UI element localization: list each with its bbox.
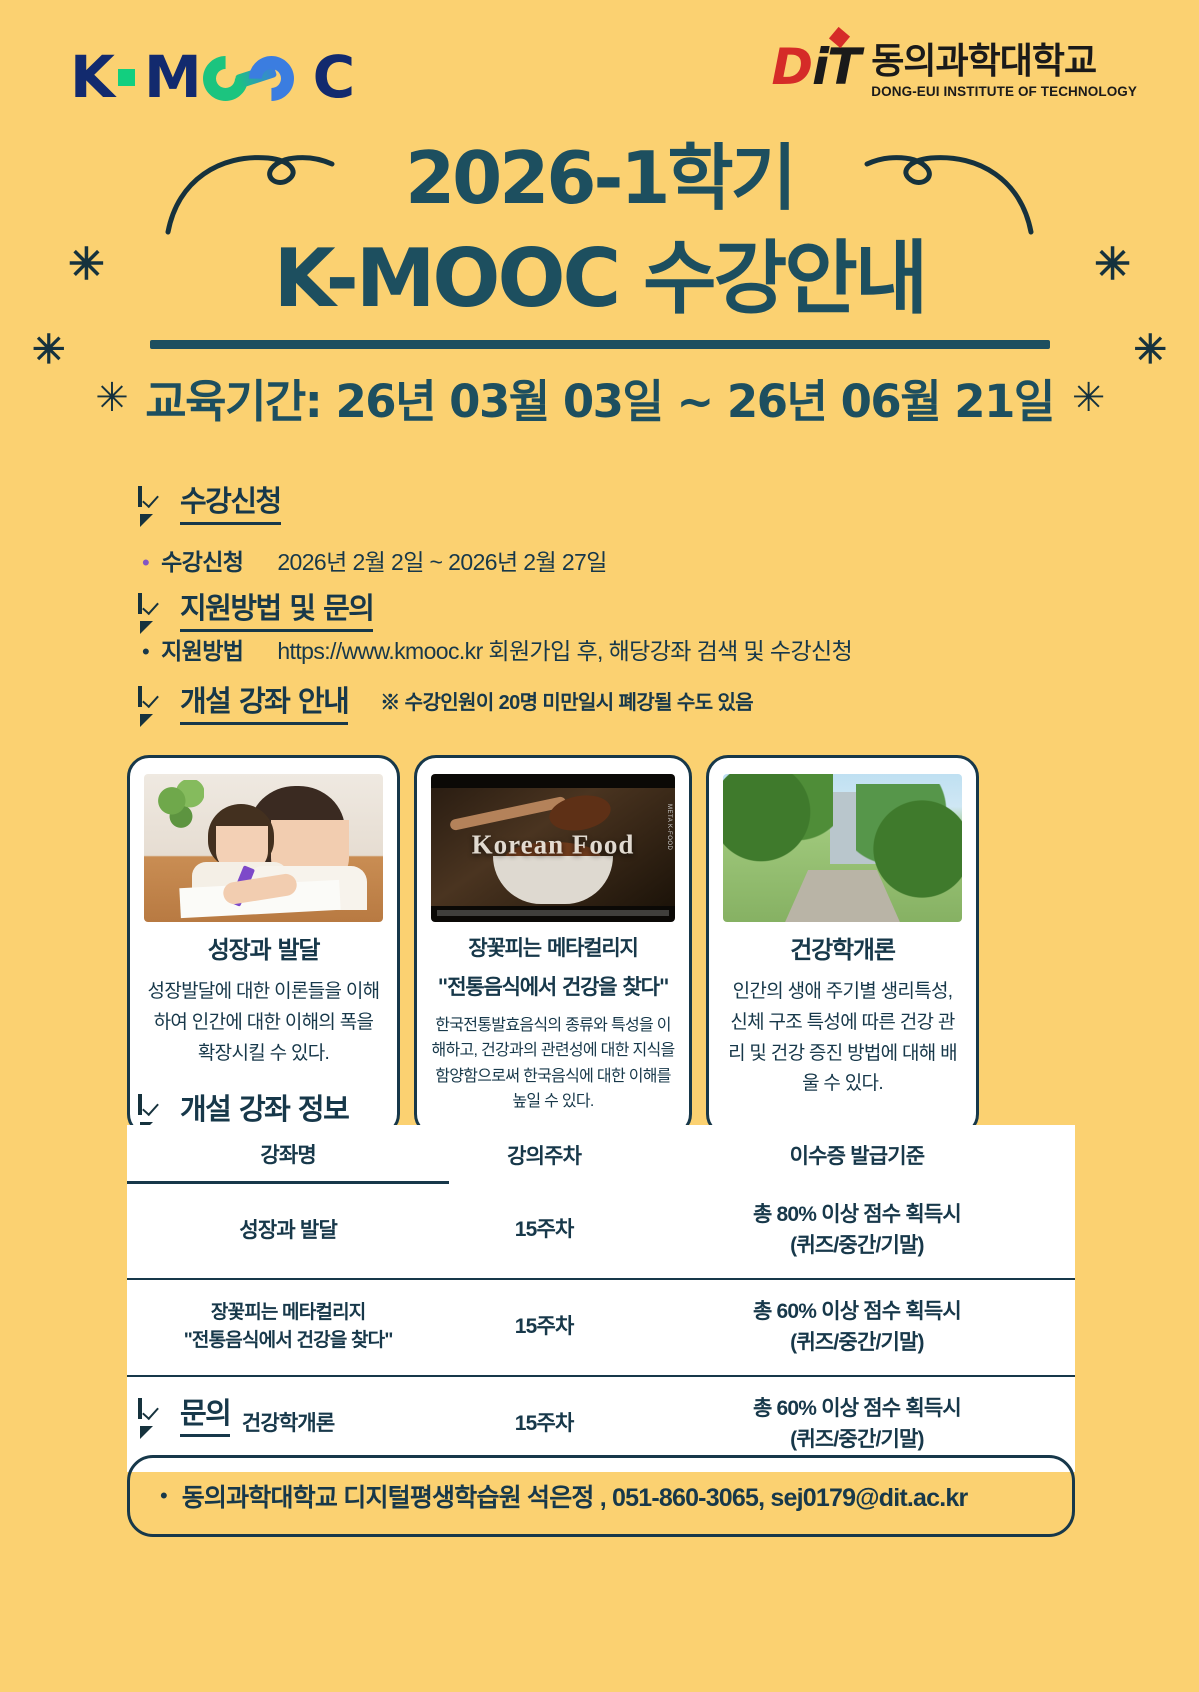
period-line: ✳ 교육기간: 26년 03월 03일 ~ 26년 06월 21일 ✳ [0, 365, 1199, 430]
course-name-line-2: "전통음식에서 건강을 찾다" [133, 1327, 443, 1356]
table-header-course-name: 강좌명 [127, 1125, 449, 1183]
course-thumbnail [144, 774, 383, 922]
swash-flourish-icon [859, 150, 1039, 240]
apply-value: 2026년 2월 2일 ~ 2026년 2월 27일 [277, 543, 606, 577]
section-title-method: 지원방법 및 문의 [180, 585, 373, 632]
children-drawing-photo [144, 774, 383, 922]
period-text: 교육기간: 26년 03월 03일 ~ 26년 06월 21일 [145, 365, 1054, 430]
criteria-line-1: 총 60% 이상 점수 획득시 [645, 1296, 1069, 1328]
kmooc-letter-k: K [70, 48, 113, 106]
section-title-apply: 수강신청 [180, 478, 281, 525]
dit-korean-name: 동의과학대학교 [871, 42, 1137, 81]
table-row: 성장과 발달 15주차 총 80% 이상 점수 획득시 (퀴즈/중간/기말) [127, 1183, 1075, 1279]
criteria-line-1: 총 80% 이상 점수 획득시 [645, 1199, 1069, 1231]
course-card-title: 건강학개론 [790, 935, 894, 965]
swash-flourish-icon [160, 150, 340, 240]
table-header-weeks: 강의주차 [449, 1125, 639, 1183]
course-thumbnail [723, 774, 962, 922]
criteria-line-2: (퀴즈/중간/기말) [645, 1424, 1069, 1456]
star-icon: ✳ [95, 378, 127, 418]
dit-logo: D iT 동의과학대학교 DONG-EUI INSTITUTE OF TECHN… [772, 42, 1137, 99]
course-card-list: 성장과 발달 성장발달에 대한 이론들을 이해하여 인간에 대한 이해의 폭을 … [127, 755, 1075, 1136]
star-icon: ✳ [1072, 378, 1104, 418]
dit-letter-d: D [772, 42, 813, 92]
checkbox-bubble-icon [138, 1400, 166, 1428]
course-card[interactable]: Korean Food META K-FOOD 장꽃피는 메타컬리지 "전통음식… [414, 755, 692, 1136]
kmooc-infinity-icon [203, 50, 307, 104]
poster-root: K M C D iT 동의과학대학교 DONG-EUI INSTITUTE OF… [0, 0, 1199, 1692]
course-card-desc: 한국전통발효음식의 종류와 특성을 이해하고, 건강과의 관련성에 대한 지식을… [431, 1013, 675, 1115]
korean-food-video-thumbnail: Korean Food META K-FOOD [431, 774, 675, 922]
dit-name-block: 동의과학대학교 DONG-EUI INSTITUTE OF TECHNOLOGY [871, 42, 1137, 99]
course-card-title: 성장과 발달 [208, 935, 320, 965]
kmooc-logo: K M C [70, 48, 353, 106]
apply-detail-line: • 수강신청 2026년 2월 2일 ~ 2026년 2월 27일 [142, 543, 607, 577]
table-cell-weeks: 15주차 [449, 1279, 639, 1376]
contact-box: • 동의과학대학교 디지털평생학습원 석은정 , 051-860-3065, s… [127, 1455, 1075, 1537]
checkbox-bubble-icon [138, 688, 166, 716]
course-card[interactable]: 건강학개론 인간의 생애 주기별 생리특성, 신체 구조 특성에 따른 건강 관… [706, 755, 979, 1136]
method-label: 지원방법 [161, 632, 243, 666]
table-cell-course-name: 장꽃피는 메타컬리지 "전통음식에서 건강을 찾다" [127, 1279, 449, 1376]
women-walking-outdoors-photo [723, 774, 962, 922]
course-card-title: 장꽃피는 메타컬리지 [468, 935, 637, 961]
method-value[interactable]: https://www.kmooc.kr 회원가입 후, 해당강좌 검색 및 수… [277, 632, 852, 666]
title-line-2: K-MOOC 수강안내 [0, 236, 1199, 322]
criteria-line-2: (퀴즈/중간/기말) [645, 1230, 1069, 1262]
section-title-inquiry: 문의 [180, 1390, 230, 1437]
courses-note: ※ 수강인원이 20명 미만일시 폐강될 수도 있음 [380, 686, 753, 717]
title-block: 2026-1학기 K-MOOC 수강안내 ✳ 교육기간: 26년 03월 03일… [0, 140, 1199, 430]
thumbnail-side-label: META K-FOOD [666, 804, 672, 850]
apply-label: 수강신청 [161, 543, 243, 577]
dit-wordmark: D iT [772, 42, 860, 92]
table-header-row: 강좌명 강의주차 이수증 발급기준 [127, 1125, 1075, 1183]
section-header-courses: 개설 강좌 안내 ※ 수강인원이 20명 미만일시 폐강될 수도 있음 [138, 678, 753, 725]
table-cell-course-name: 성장과 발달 [127, 1183, 449, 1279]
course-card[interactable]: 성장과 발달 성장발달에 대한 이론들을 이해하여 인간에 대한 이해의 폭을 … [127, 755, 400, 1136]
table-row: 장꽃피는 메타컬리지 "전통음식에서 건강을 찾다" 15주차 총 60% 이상… [127, 1279, 1075, 1376]
table-header-criteria: 이수증 발급기준 [639, 1125, 1075, 1183]
dit-letters-it: iT [812, 42, 859, 92]
course-info-table: 강좌명 강의주차 이수증 발급기준 성장과 발달 15주차 총 80% 이상 점… [127, 1125, 1075, 1472]
contact-text[interactable]: 동의과학대학교 디지털평생학습원 석은정 , 051-860-3065, sej… [182, 1478, 968, 1514]
criteria-line-2: (퀴즈/중간/기말) [645, 1327, 1069, 1359]
course-name-line-1: 장꽃피는 메타컬리지 [133, 1299, 443, 1328]
bullet-dot-icon: • [142, 641, 149, 663]
method-detail-line: • 지원방법 https://www.kmooc.kr 회원가입 후, 해당강좌… [142, 632, 852, 666]
thumbnail-caption: Korean Food [431, 830, 675, 861]
course-info-table-wrap: 강좌명 강의주차 이수증 발급기준 성장과 발달 15주차 총 80% 이상 점… [127, 1125, 1075, 1472]
course-card-desc: 성장발달에 대한 이론들을 이해하여 인간에 대한 이해의 폭을 확장시킬 수 … [144, 977, 383, 1069]
section-title-courses: 개설 강좌 안내 [180, 678, 348, 725]
section-header-apply: 수강신청 [138, 478, 281, 525]
criteria-line-1: 총 60% 이상 점수 획득시 [645, 1393, 1069, 1425]
course-card-desc: 인간의 생애 주기별 생리특성, 신체 구조 특성에 따른 건강 관리 및 건강… [723, 977, 962, 1100]
section-header-method: 지원방법 및 문의 [138, 585, 373, 632]
course-card-subtitle: "전통음식에서 건강을 찾다" [437, 974, 668, 1000]
table-cell-weeks: 15주차 [449, 1183, 639, 1279]
section-header-inquiry: 문의 [138, 1390, 230, 1437]
course-thumbnail: Korean Food META K-FOOD [431, 774, 675, 922]
bullet-dot-icon: • [142, 552, 149, 574]
kmooc-letter-m: M [144, 48, 199, 106]
kmooc-letter-c: C [313, 48, 354, 106]
checkbox-bubble-icon [138, 1096, 166, 1124]
bullet-dot-icon: • [160, 1485, 168, 1507]
table-cell-criteria: 총 80% 이상 점수 획득시 (퀴즈/중간/기말) [639, 1183, 1075, 1279]
checkbox-bubble-icon [138, 488, 166, 516]
dit-english-name: DONG-EUI INSTITUTE OF TECHNOLOGY [871, 84, 1137, 99]
checkbox-bubble-icon [138, 595, 166, 623]
kmooc-dot-icon [118, 69, 135, 86]
table-cell-criteria: 총 60% 이상 점수 획득시 (퀴즈/중간/기말) [639, 1279, 1075, 1376]
title-divider [150, 340, 1050, 349]
